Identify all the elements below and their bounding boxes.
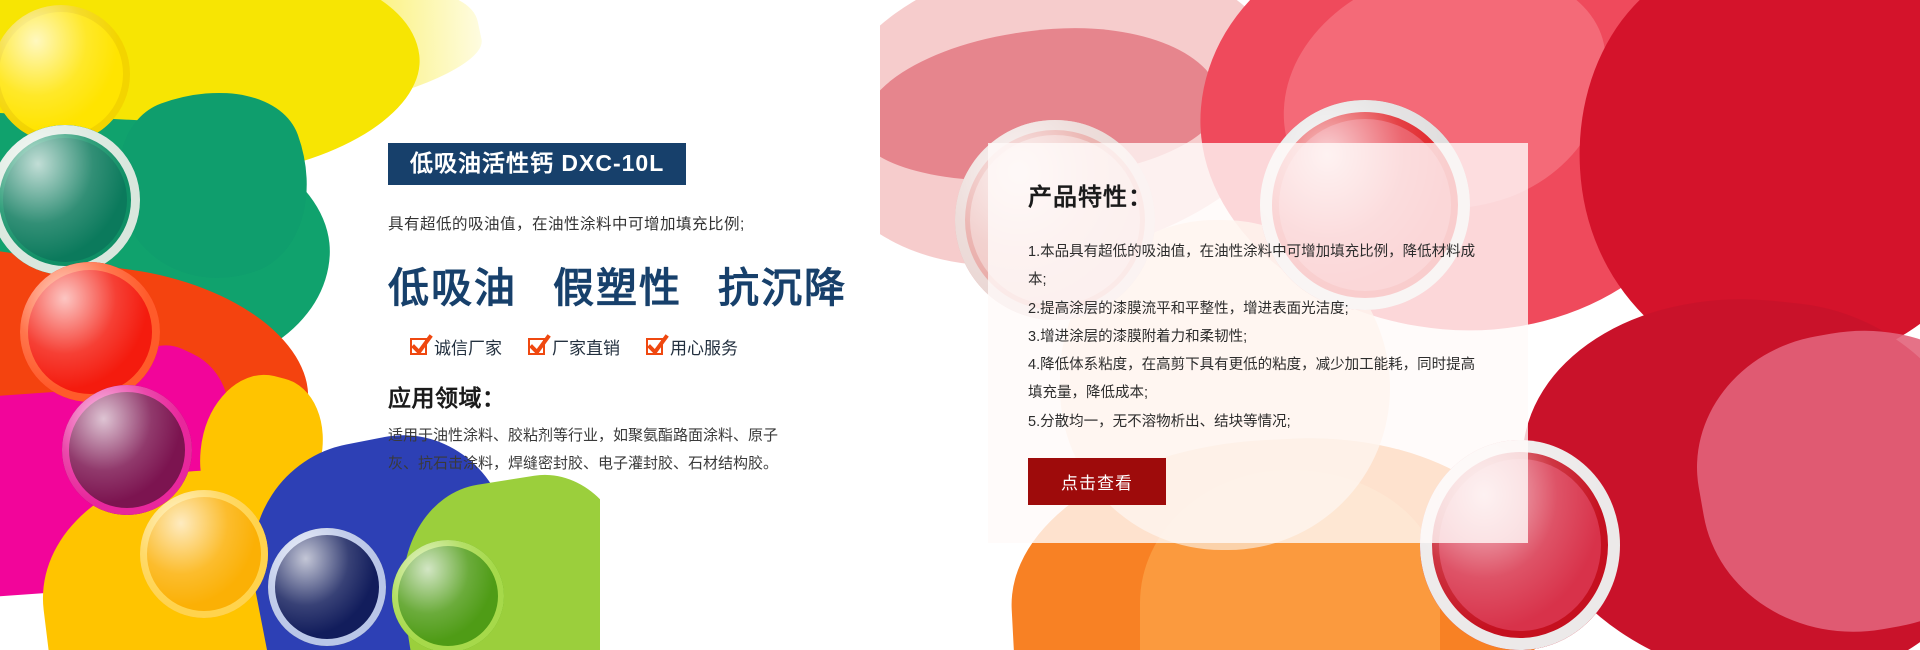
keyword-3: 抗沉降 xyxy=(718,254,847,314)
paint-can-navy xyxy=(268,528,386,646)
paint-can-lime xyxy=(392,540,504,650)
paint-can-red xyxy=(20,262,160,402)
left-content-block: 低吸油活性钙 DXC-10L 具有超低的吸油值，在油性涂料中可增加填充比例; 低… xyxy=(388,143,908,478)
trust-badge-1: 诚信厂家 xyxy=(410,334,502,359)
trust-badge-2-label: 厂家直销 xyxy=(552,334,620,359)
product-title-tag: 低吸油活性钙 DXC-10L xyxy=(388,143,686,185)
features-panel-title: 产品特性： xyxy=(1028,177,1488,212)
paint-can-purple xyxy=(62,385,192,515)
product-features-panel: 产品特性： 1.本品具有超低的吸油值，在油性涂料中可增加填充比例，降低材料成本;… xyxy=(988,143,1528,543)
paint-can-amber xyxy=(140,490,268,618)
check-icon xyxy=(410,338,427,355)
application-section-title: 应用领域： xyxy=(388,379,908,413)
trust-badge-2: 厂家直销 xyxy=(528,334,620,359)
view-details-button[interactable]: 点击查看 xyxy=(1028,458,1166,505)
trust-badge-3-label: 用心服务 xyxy=(670,334,738,359)
feature-item: 1.本品具有超低的吸油值，在油性涂料中可增加填充比例，降低材料成本; xyxy=(1028,238,1488,295)
trust-badge-1-label: 诚信厂家 xyxy=(434,334,502,359)
feature-item: 4.降低体系粘度，在高剪下具有更低的粘度，减少加工能耗，同时提高填充量，降低成本… xyxy=(1028,351,1488,408)
feature-item: 3.增进涂层的漆膜附着力和柔韧性; xyxy=(1028,323,1488,351)
keyword-2: 假塑性 xyxy=(553,254,682,314)
check-icon xyxy=(646,338,663,355)
check-icon xyxy=(528,338,545,355)
keyword-row: 低吸油 假塑性 抗沉降 xyxy=(388,254,908,314)
feature-item: 5.分散均一，无不溶物析出、结块等情况; xyxy=(1028,408,1488,436)
product-hero-banner: 低吸油活性钙 DXC-10L 具有超低的吸油值，在油性涂料中可增加填充比例; 低… xyxy=(0,0,1920,650)
trust-badge-3: 用心服务 xyxy=(646,334,738,359)
trust-badge-row: 诚信厂家 厂家直销 用心服务 xyxy=(388,334,908,359)
product-subline: 具有超低的吸油值，在油性涂料中可增加填充比例; xyxy=(388,212,908,234)
features-list: 1.本品具有超低的吸油值，在油性涂料中可增加填充比例，降低材料成本; 2.提高涂… xyxy=(1028,238,1488,436)
keyword-1: 低吸油 xyxy=(388,254,517,314)
feature-item: 2.提高涂层的漆膜流平和平整性，增进表面光洁度; xyxy=(1028,295,1488,323)
application-section-body: 适用于油性涂料、胶粘剂等行业，如聚氨酯路面涂料、原子灰、抗石击涂料，焊缝密封胶、… xyxy=(388,422,788,478)
